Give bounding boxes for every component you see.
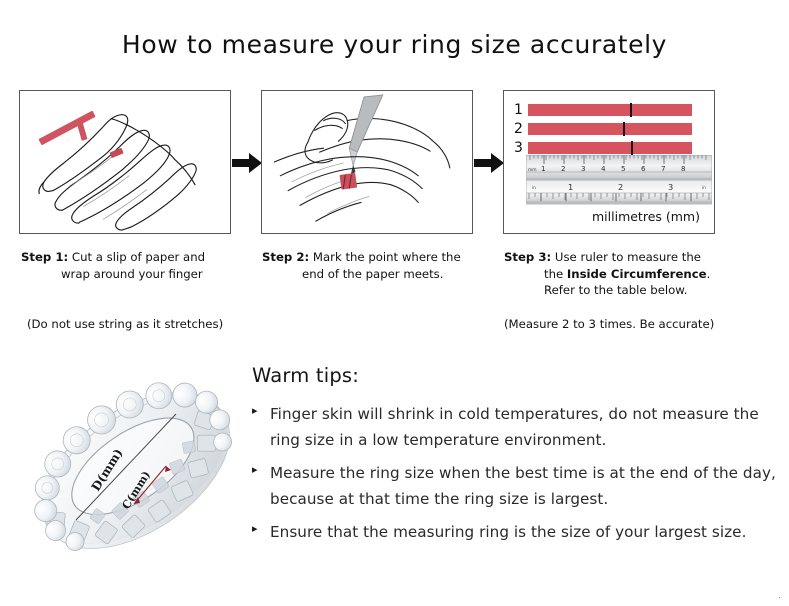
step-2-caption: Step 2: Mark the point where the end of … [262, 249, 494, 282]
tip-item-3: ▸ Ensure that the measuring ring is the … [252, 519, 777, 545]
inside-circumference-emphasis: Inside Circumference [567, 267, 707, 281]
tip-item-2: ▸ Measure the ring size when the best ti… [252, 460, 777, 512]
ruler-graphic: 123 456 78 mm 123 in in [526, 155, 712, 205]
strip-2 [528, 123, 692, 135]
tip-text-3: Ensure that the measuring ring is the si… [270, 519, 746, 545]
step-3-caption: Step 3: Use ruler to measure the the Ins… [504, 249, 764, 299]
steps-panel-row: 1 2 3 [0, 90, 789, 240]
svg-text:1: 1 [541, 164, 546, 173]
svg-text:5: 5 [621, 164, 626, 173]
paper-strip-with-mark [339, 173, 357, 190]
strip-number-2: 2 [514, 122, 528, 136]
ring-size-guide-infographic: How to measure your ring size accurately [0, 0, 789, 606]
step-1-caption: Step 1: Cut a slip of paper and wrap aro… [21, 249, 253, 282]
svg-text:4: 4 [601, 164, 606, 173]
svg-text:2: 2 [561, 164, 566, 173]
step-3-line-1: Use ruler to measure the [555, 250, 701, 264]
step-1-label: Step 1: [21, 250, 68, 264]
arrow-right-icon-2 [474, 152, 504, 174]
ruler-cm-unit-tag: mm [528, 168, 537, 173]
paper-strip-wrapped [76, 119, 124, 158]
eternity-ring-illustration: D(mm) C(mm) [16, 352, 252, 584]
strip-3 [528, 142, 692, 154]
tip-text-2: Measure the ring size when the best time… [270, 460, 777, 512]
hands-marking-paper-drawing [262, 91, 472, 233]
strip-number-1: 1 [514, 103, 528, 117]
svg-text:8: 8 [681, 164, 686, 173]
step-2-line-1: Mark the point where the [313, 250, 461, 264]
measured-strip-row-2: 2 [514, 122, 704, 136]
bullet-triangle-icon: ▸ [252, 401, 270, 416]
step-3-line-3: Refer to the table below. [504, 282, 764, 299]
warm-tips-heading: Warm tips: [252, 364, 777, 387]
tip-item-1: ▸ Finger skin will shrink in cold temper… [252, 401, 777, 453]
step-2-line-2: end of the paper meets. [262, 266, 494, 283]
step-3-label: Step 3: [504, 250, 551, 264]
step-3-illustration-panel: 1 2 3 [503, 90, 715, 234]
strip-number-3: 3 [514, 141, 528, 155]
strip-1-mark [630, 103, 632, 117]
corner-mark: . [778, 591, 781, 601]
step-1-line-2: wrap around your finger [21, 266, 253, 283]
strip-2-mark [623, 122, 625, 136]
step-2-illustration-panel [261, 90, 473, 234]
measured-strip-row-3: 3 [514, 141, 704, 155]
measured-strip-row-1: 1 [514, 103, 704, 117]
svg-text:3: 3 [581, 164, 586, 173]
strip-3-mark [631, 141, 633, 155]
arrow-right-icon-1 [232, 152, 262, 174]
svg-text:6: 6 [641, 164, 646, 173]
strip-1 [528, 104, 692, 116]
tip-text-1: Finger skin will shrink in cold temperat… [270, 401, 777, 453]
step-1-illustration-panel [19, 90, 231, 234]
svg-text:7: 7 [661, 164, 666, 173]
paper-strip-red-loose [38, 111, 95, 146]
step-1-line-1: Cut a slip of paper and [72, 250, 205, 264]
page-title: How to measure your ring size accurately [0, 30, 789, 59]
svg-text:2: 2 [618, 182, 623, 192]
step-1-note: (Do not use string as it stretches) [27, 317, 223, 331]
bullet-triangle-icon: ▸ [252, 460, 270, 475]
warm-tips-section: Warm tips: ▸ Finger skin will shrink in … [252, 364, 777, 552]
step-3-line-2: the Inside Circumference. [504, 266, 764, 283]
hand-with-paper-strip-drawing [20, 91, 230, 233]
svg-text:in: in [702, 185, 706, 190]
svg-text:1: 1 [568, 182, 573, 192]
step-2-label: Step 2: [262, 250, 309, 264]
ruler-inch-unit-tag: in [532, 185, 536, 190]
svg-text:3: 3 [668, 182, 673, 192]
ruler-unit-label: millimetres (mm) [592, 209, 700, 224]
bullet-triangle-icon: ▸ [252, 519, 270, 534]
ring-diagram: D(mm) C(mm) [16, 352, 252, 584]
step-3-note: (Measure 2 to 3 times. Be accurate) [504, 317, 714, 331]
